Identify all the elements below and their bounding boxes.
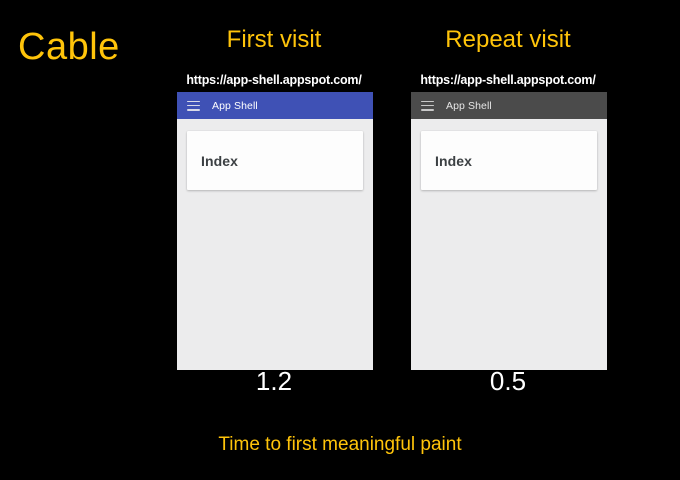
device-body-repeat-visit: Index xyxy=(411,119,607,370)
app-bar-repeat-visit: App Shell xyxy=(411,92,607,119)
panel-repeat-visit: Repeat visit https://app-shell.appspot.c… xyxy=(391,0,625,480)
metric-value-repeat-visit: 0.5 xyxy=(391,368,625,394)
device-screenshot-repeat-visit: App Shell Index xyxy=(411,92,607,370)
url-label-repeat-visit: https://app-shell.appspot.com/ xyxy=(391,74,625,87)
slide-caption: Time to first meaningful paint xyxy=(0,435,680,454)
device-screenshot-first-visit: App Shell Index xyxy=(177,92,373,370)
panel-heading-repeat-visit: Repeat visit xyxy=(391,28,625,52)
app-bar-title: App Shell xyxy=(446,100,492,112)
content-card-repeat-visit[interactable]: Index xyxy=(421,131,597,190)
panel-first-visit: First visit https://app-shell.appspot.co… xyxy=(157,0,391,480)
presentation-slide: Cable First visit https://app-shell.apps… xyxy=(0,0,680,480)
app-bar-first-visit: App Shell xyxy=(177,92,373,119)
content-card-first-visit[interactable]: Index xyxy=(187,131,363,190)
card-title: Index xyxy=(201,153,238,169)
device-body-first-visit: Index xyxy=(177,119,373,370)
metric-value-first-visit: 1.2 xyxy=(157,368,391,394)
slide-title: Cable xyxy=(18,28,120,66)
panel-heading-first-visit: First visit xyxy=(157,28,391,52)
url-label-first-visit: https://app-shell.appspot.com/ xyxy=(157,74,391,87)
hamburger-menu-icon[interactable] xyxy=(421,101,434,111)
hamburger-menu-icon[interactable] xyxy=(187,101,200,111)
app-bar-title: App Shell xyxy=(212,100,258,112)
card-title: Index xyxy=(435,153,472,169)
